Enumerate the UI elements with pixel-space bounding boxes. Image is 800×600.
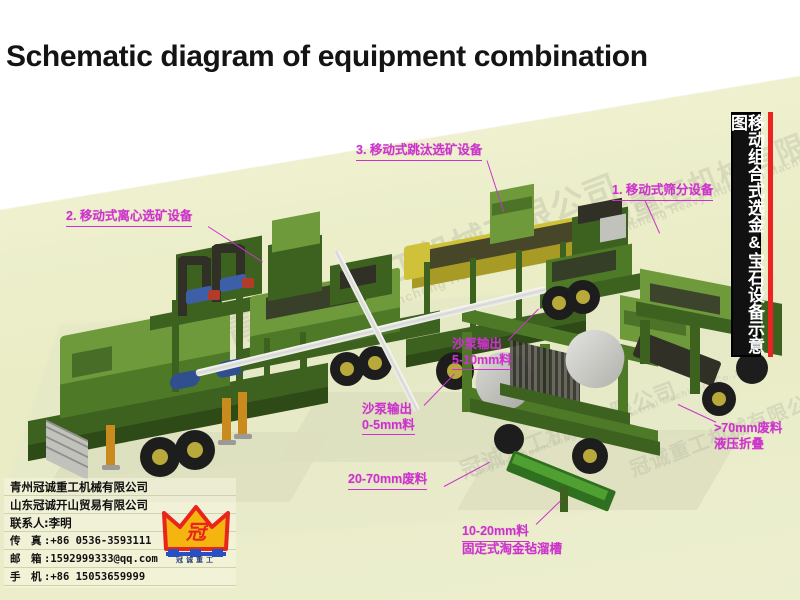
wheel-rim: [187, 442, 203, 458]
callout-waste-70-line2: 液压折叠: [714, 437, 782, 453]
callout-sluice-line1: 10-20mm料: [462, 524, 529, 542]
callout-label-2-text: 2. 移动式离心选矿设备: [66, 209, 192, 227]
valve-fitting: [208, 290, 220, 300]
company-logo: 冠 冠诚重工: [160, 503, 232, 571]
callout-waste-20-70-text: 20-70mm废料: [348, 472, 427, 490]
callout-pump-5-10-line2: 5-10mm料: [452, 353, 512, 371]
callout-label-1-text: 1. 移动式筛分设备: [612, 183, 713, 201]
leg-footplate: [218, 440, 236, 445]
page-title: Schematic diagram of equipment combinati…: [6, 40, 648, 74]
email-label: 邮 箱: [10, 550, 44, 568]
wheel-rim: [152, 449, 168, 465]
svg-text:冠: 冠: [185, 520, 209, 544]
callout-sluice: 10-20mm料 固定式淘金毡溜槽: [462, 524, 562, 557]
hydraulic-leg: [222, 398, 231, 442]
email-value: 1592999333@qq.com: [50, 553, 157, 565]
valve-fitting: [242, 278, 254, 288]
intake-pipe: [178, 258, 187, 316]
fax-label: 传 真: [10, 532, 44, 550]
callout-pump-0-5: 沙泵输出 0-5mm料: [362, 402, 415, 435]
frame-column: [516, 250, 522, 324]
callout-pump-0-5-line2: 0-5mm料: [362, 418, 415, 436]
callout-label-3-text: 3. 移动式跳汰选矿设备: [356, 143, 482, 161]
wheel-rim: [368, 356, 382, 370]
vertical-banner-title: 移动组合式选金&宝石设备示意图: [731, 112, 761, 357]
sluice-leg: [560, 486, 568, 512]
fax-value: +86 0536-3593111: [50, 535, 151, 547]
wheel-rim: [552, 296, 566, 310]
logo-subtitle: 冠诚重工: [160, 555, 232, 565]
callout-pump-5-10-line1: 沙泵输出: [452, 337, 512, 353]
leg-footplate: [234, 434, 252, 439]
callout-waste-70-line1: >70mm废料: [714, 421, 782, 437]
frame-column: [300, 332, 306, 374]
callout-pump-0-5-line1: 沙泵输出: [362, 402, 415, 418]
trailer-wheel: [494, 424, 524, 454]
contact-label: 联系人: [10, 514, 44, 532]
company-name-primary: 青州冠诚重工机械有限公司: [4, 478, 236, 496]
callout-waste-70: >70mm废料 液压折叠: [714, 421, 782, 452]
callout-label-2: 2. 移动式离心选矿设备: [66, 209, 192, 227]
wheel-rim: [340, 362, 354, 376]
wheel-rim: [576, 290, 590, 304]
contact-value: 李明: [49, 516, 72, 530]
callout-waste-20-70: 20-70mm废料: [348, 472, 427, 490]
leg-footplate: [102, 465, 120, 470]
diagram-canvas: 青州冠诚重工机械有限公司 Qingzhou Guancheng Heavy In…: [0, 0, 800, 600]
hydraulic-leg: [238, 392, 247, 436]
frame-column: [640, 320, 650, 364]
crown-icon: 冠: [160, 503, 232, 557]
callout-pump-5-10: 沙泵输出 5-10mm料: [452, 337, 512, 370]
wheel-rim: [583, 449, 597, 463]
callout-label-3: 3. 移动式跳汰选矿设备: [356, 143, 482, 161]
red-accent-bar: [768, 112, 773, 357]
mobile-label: 手 机: [10, 568, 44, 586]
frame-column: [690, 324, 700, 394]
mobile-value: +86 15053659999: [50, 571, 145, 583]
callout-label-1: 1. 移动式筛分设备: [612, 183, 713, 201]
callout-sluice-line2: 固定式淘金毡溜槽: [462, 542, 562, 558]
control-cabinet: [600, 213, 626, 242]
wheel-rim: [712, 392, 726, 406]
hydraulic-leg: [106, 425, 115, 467]
